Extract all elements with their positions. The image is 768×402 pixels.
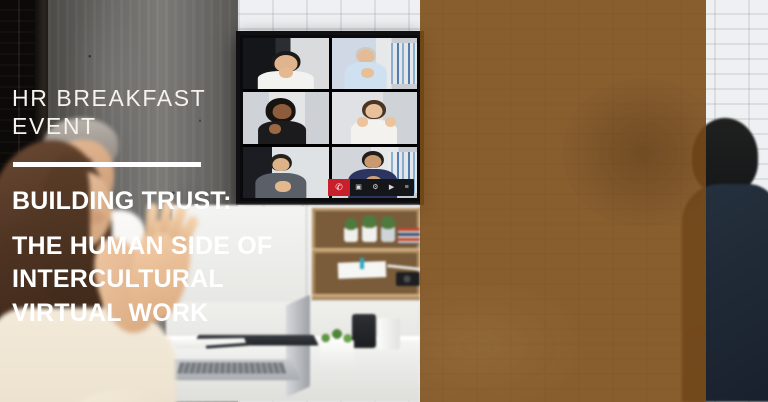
headline-primary: BUILDING TRUST: [12, 188, 288, 216]
event-kicker: HR BREAKFAST EVENT [12, 84, 262, 140]
title-divider [13, 162, 201, 167]
overlay-text-block: HR BREAKFAST EVENT BUILDING TRUST: THE H… [12, 0, 768, 402]
event-promo-banner: ✆ ▣ ⚙ ▶ ≡ [0, 0, 768, 402]
headline-secondary: THE HUMAN SIDE OF INTERCULTURAL VIRTUAL … [12, 230, 294, 330]
